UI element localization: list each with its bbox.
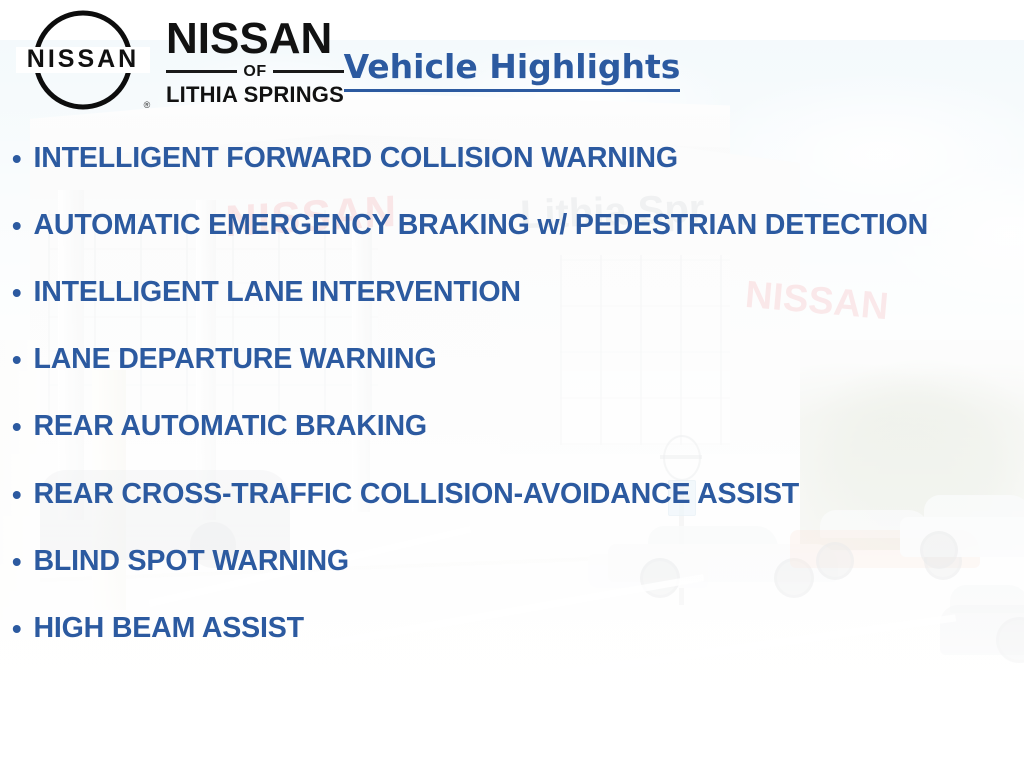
list-item-label: AUTOMATIC EMERGENCY BRAKING w/ PEDESTRIA… [33,209,928,241]
rule-right [273,70,344,73]
list-item-label: REAR AUTOMATIC BRAKING [33,410,426,442]
bullet-dot-icon [13,155,21,163]
lockup-of-row: OF [166,63,344,81]
list-item-label: INTELLIGENT LANE INTERVENTION [33,276,520,308]
list-item: INTELLIGENT LANE INTERVENTION [0,274,985,311]
dealership-name-lockup: NISSAN OF LITHIA SPRINGS [166,12,344,107]
list-item-label: REAR CROSS-TRAFFIC COLLISION-AVOIDANCE A… [33,478,799,510]
list-item: LANE DEPARTURE WARNING [0,341,985,378]
lockup-connector: OF [243,63,266,81]
bullet-dot-icon [13,491,21,499]
emblem-wordmark: NISSAN [27,45,139,73]
bullet-dot-icon [13,423,21,431]
bullet-dot-icon [13,558,21,566]
bullet-dot-icon [13,625,21,633]
bullet-dot-icon [13,289,21,297]
lockup-brand: NISSAN [166,18,344,60]
registered-mark: ® [144,100,151,110]
vehicle-highlights-list: INTELLIGENT FORWARD COLLISION WARNING AU… [0,140,1000,677]
bullet-dot-icon [13,356,21,364]
list-item: REAR AUTOMATIC BRAKING [0,408,985,445]
list-item-label: HIGH BEAM ASSIST [33,612,303,644]
bullet-dot-icon [13,222,21,230]
list-item: AUTOMATIC EMERGENCY BRAKING w/ PEDESTRIA… [0,207,985,244]
list-item: BLIND SPOT WARNING [0,543,985,580]
rule-left [166,70,237,73]
lockup-city: LITHIA SPRINGS [166,82,344,108]
vehicle-highlights-slide: NISSAN Lithia Spr NISSAN [0,0,1024,768]
list-item: HIGH BEAM ASSIST [0,610,985,647]
list-item-label: BLIND SPOT WARNING [33,545,348,577]
list-item-label: INTELLIGENT FORWARD COLLISION WARNING [33,142,677,174]
nissan-circle-emblem-icon: NISSAN ® [8,7,158,113]
list-item: REAR CROSS-TRAFFIC COLLISION-AVOIDANCE A… [0,476,985,513]
nissan-lithia-springs-logo: NISSAN ® NISSAN OF LITHIA SPRINGS [8,4,338,116]
list-item-label: LANE DEPARTURE WARNING [33,343,436,375]
list-item: INTELLIGENT FORWARD COLLISION WARNING [0,140,985,177]
